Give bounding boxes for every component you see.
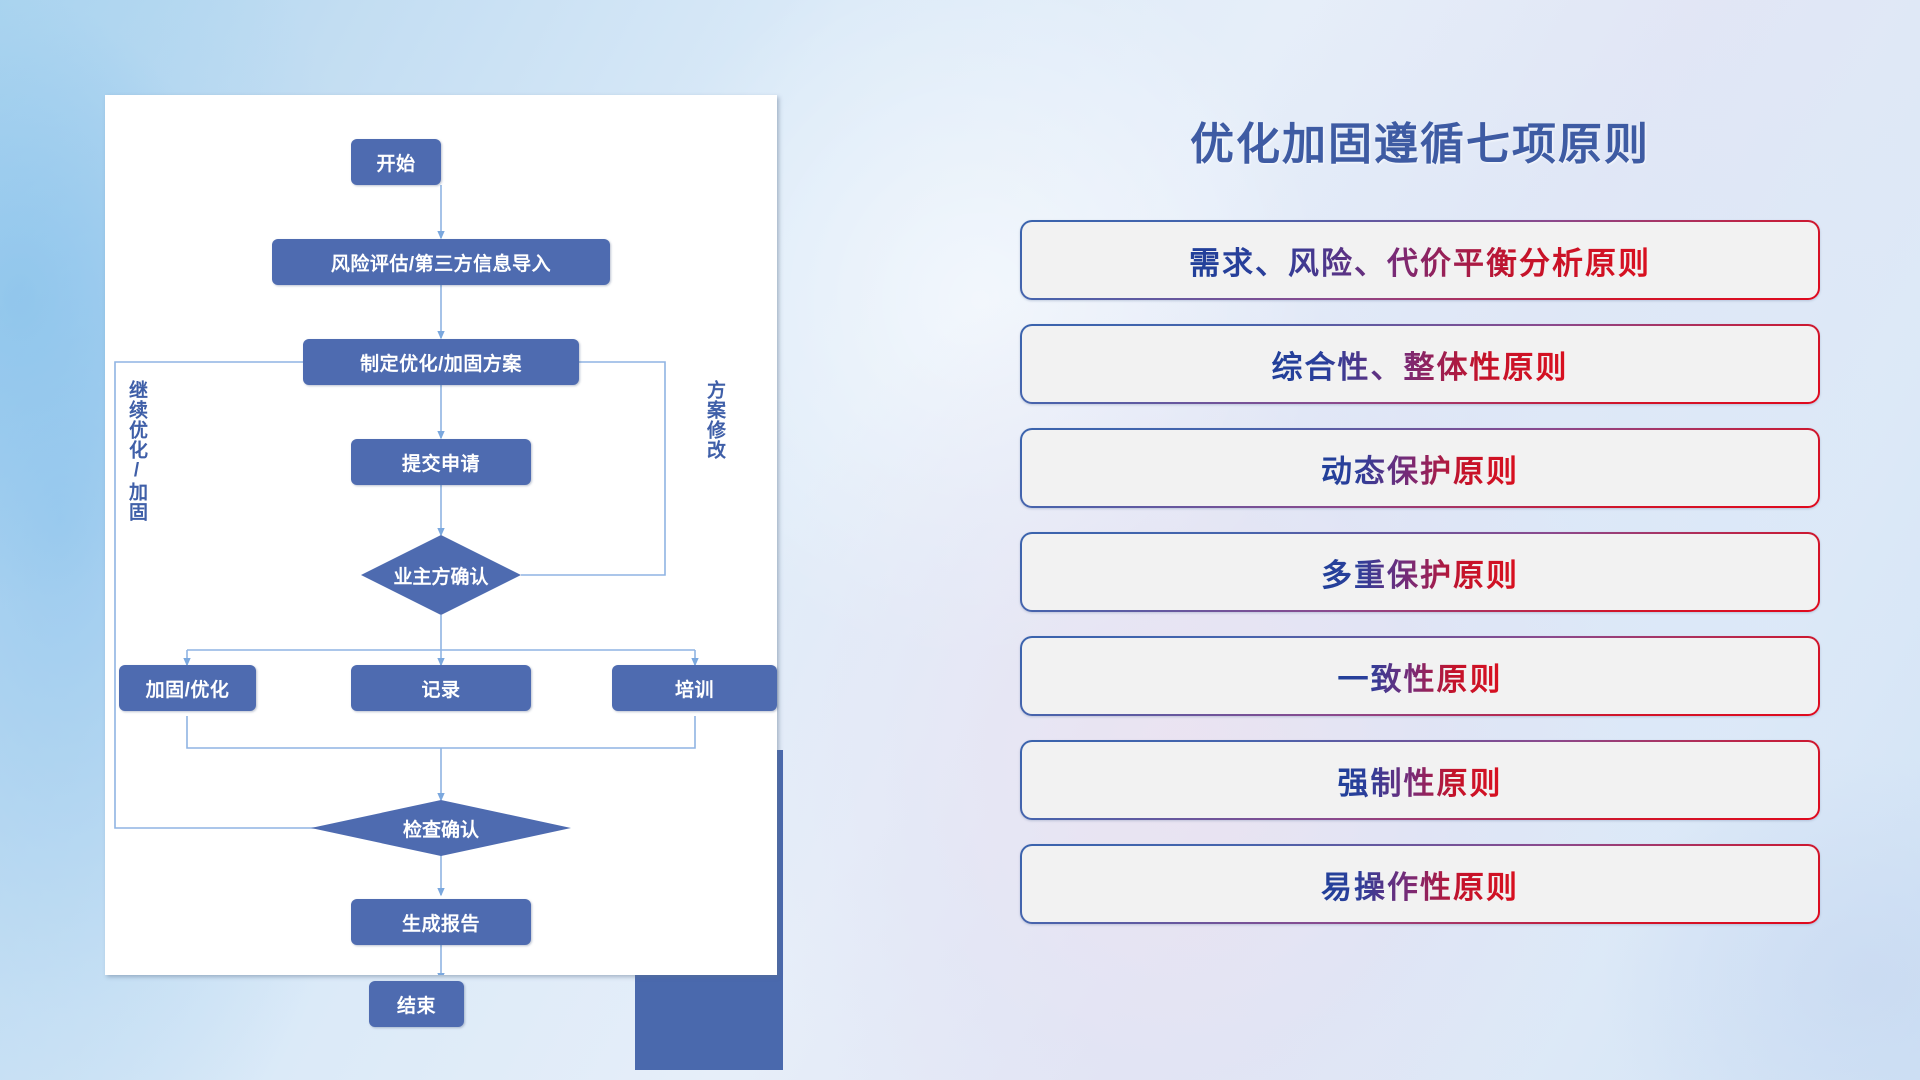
decision-owner-confirm xyxy=(361,535,521,615)
flow-node-training[interactable]: 培训 xyxy=(612,665,777,711)
principle-card-inner: 多重保护原则 xyxy=(1022,534,1818,610)
flow-node-label: 生成报告 xyxy=(402,909,480,936)
principle-card-label: 强制性原则 xyxy=(1338,758,1503,803)
principle-card[interactable]: 需求、风险、代价平衡分析原则 xyxy=(1020,220,1820,300)
principle-card-label: 综合性、整体性原则 xyxy=(1272,342,1569,387)
flow-node-end[interactable]: 结束 xyxy=(369,981,464,1027)
principle-card-label: 易操作性原则 xyxy=(1321,862,1519,907)
principle-card[interactable]: 强制性原则 xyxy=(1020,740,1820,820)
slide-canvas: 开始 风险评估/第三方信息导入 制定优化/加固方案 提交申请 业主方确认 加固/… xyxy=(0,0,1920,1080)
flow-node-record[interactable]: 记录 xyxy=(351,665,531,711)
flowchart-white-card: 开始 风险评估/第三方信息导入 制定优化/加固方案 提交申请 业主方确认 加固/… xyxy=(105,95,777,975)
flow-node-label: 记录 xyxy=(421,675,460,702)
principle-card-inner: 动态保护原则 xyxy=(1022,430,1818,506)
flow-node-reinforce-optimize[interactable]: 加固/优化 xyxy=(119,665,256,711)
flowchart-container: 开始 风险评估/第三方信息导入 制定优化/加固方案 提交申请 业主方确认 加固/… xyxy=(105,95,777,975)
principle-card-label: 多重保护原则 xyxy=(1321,550,1519,595)
flow-node-label: 结束 xyxy=(397,991,436,1018)
flow-node-plan[interactable]: 制定优化/加固方案 xyxy=(303,339,579,385)
flow-node-submit[interactable]: 提交申请 xyxy=(351,439,531,485)
principle-card-inner: 强制性原则 xyxy=(1022,742,1818,818)
principle-card[interactable]: 一致性原则 xyxy=(1020,636,1820,716)
flow-node-label: 加固/优化 xyxy=(146,675,230,702)
principle-card-inner: 需求、风险、代价平衡分析原则 xyxy=(1022,222,1818,298)
flow-node-label: 制定优化/加固方案 xyxy=(360,349,522,376)
principle-card[interactable]: 动态保护原则 xyxy=(1020,428,1820,508)
flow-edge-label-continue-optimize: 继续优化/加固 xyxy=(127,380,146,522)
principle-card[interactable]: 多重保护原则 xyxy=(1020,532,1820,612)
flow-node-start[interactable]: 开始 xyxy=(351,139,441,185)
principle-card-inner: 易操作性原则 xyxy=(1022,846,1818,922)
principle-card-label: 动态保护原则 xyxy=(1321,446,1519,491)
decision-check-confirm xyxy=(311,800,571,856)
flow-node-label: 培训 xyxy=(675,675,714,702)
principle-card-label: 需求、风险、代价平衡分析原则 xyxy=(1189,238,1651,283)
principle-card[interactable]: 易操作性原则 xyxy=(1020,844,1820,924)
flow-node-generate-report[interactable]: 生成报告 xyxy=(351,899,531,945)
principles-card-list: 需求、风险、代价平衡分析原则 综合性、整体性原则 动态保护原则 多重保护原则 xyxy=(1020,220,1820,948)
flow-node-label: 开始 xyxy=(376,149,415,176)
flow-edge-label-revise-plan: 方案修改 xyxy=(705,380,724,460)
flowchart-connectors xyxy=(105,95,777,975)
principle-card[interactable]: 综合性、整体性原则 xyxy=(1020,324,1820,404)
flow-node-label: 风险评估/第三方信息导入 xyxy=(331,249,551,276)
panel-title: 优化加固遵循七项原则 xyxy=(1020,108,1820,172)
principle-card-inner: 一致性原则 xyxy=(1022,638,1818,714)
principle-card-inner: 综合性、整体性原则 xyxy=(1022,326,1818,402)
flow-node-label: 提交申请 xyxy=(402,449,480,476)
principle-card-label: 一致性原则 xyxy=(1338,654,1503,699)
flow-node-risk-assessment[interactable]: 风险评估/第三方信息导入 xyxy=(272,239,610,285)
principles-panel: 优化加固遵循七项原则 需求、风险、代价平衡分析原则 综合性、整体性原则 动态保护… xyxy=(1020,100,1820,1000)
